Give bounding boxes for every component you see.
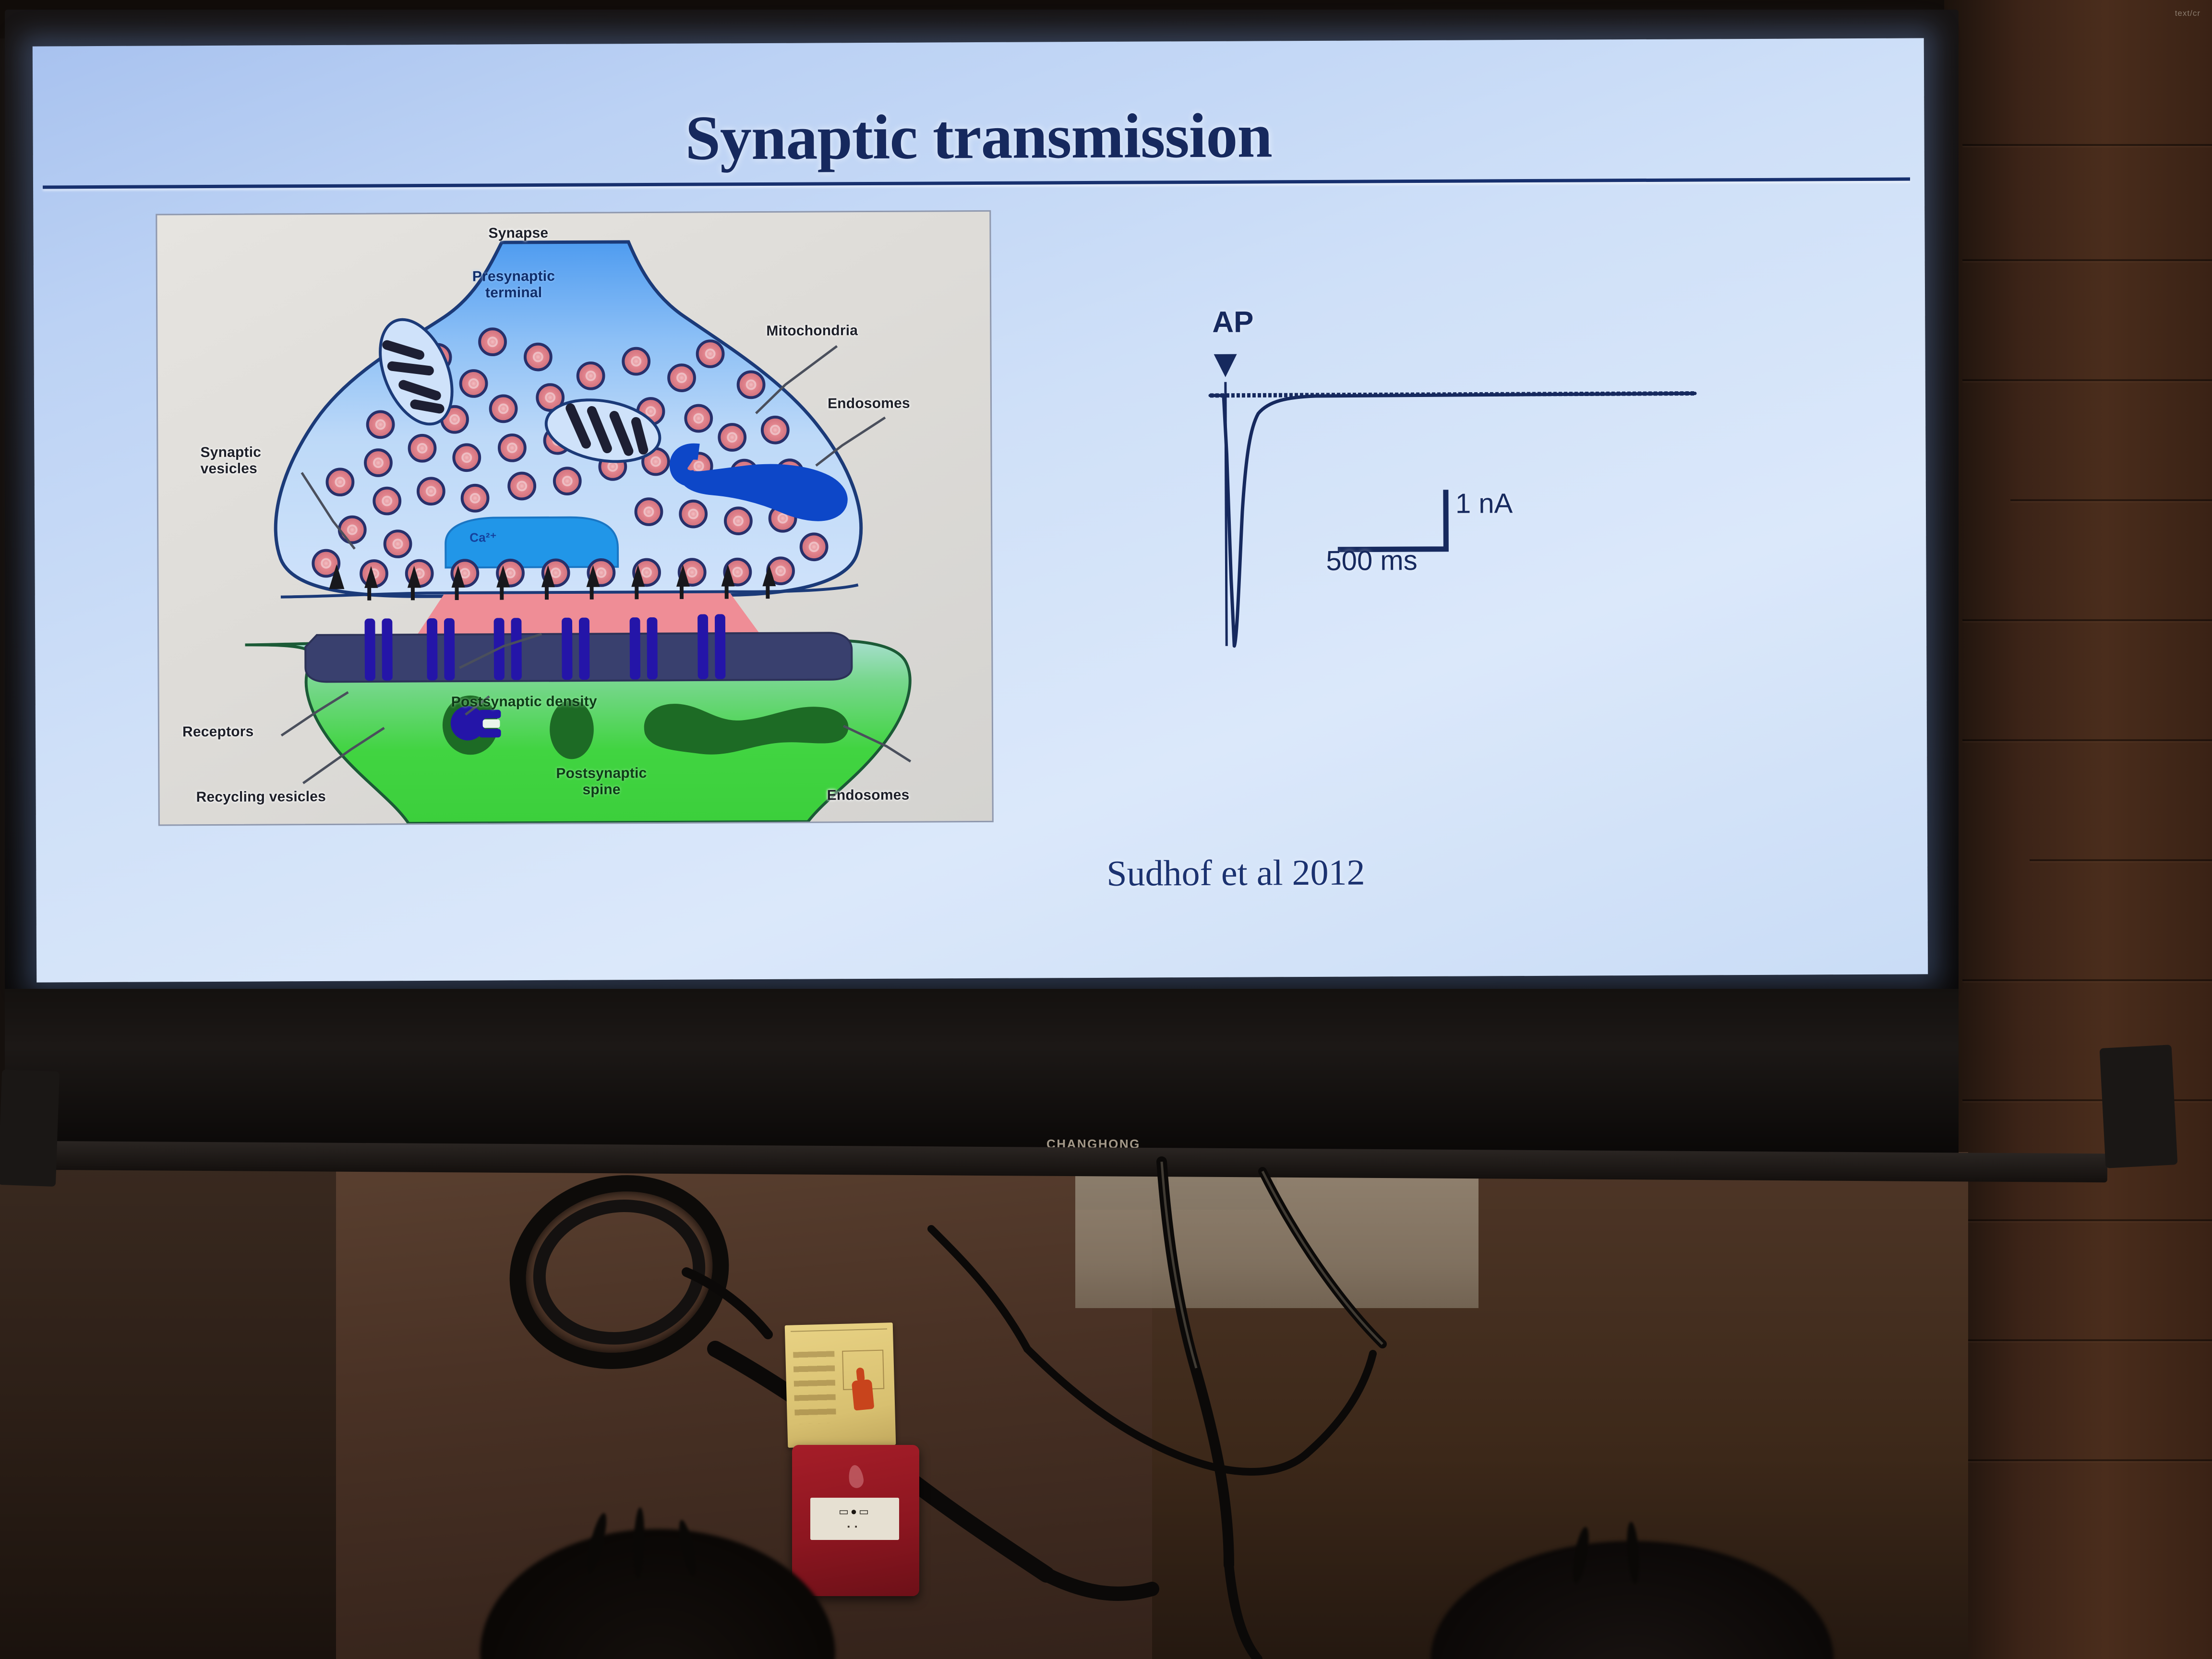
scale-bar-time-label: 500 ms (1326, 544, 1417, 577)
wall-panel (1075, 1159, 1479, 1308)
label-presynaptic-terminal: Presynaptic terminal (472, 268, 555, 301)
title-divider (43, 178, 1910, 189)
label-endosomes-top: Endosomes (828, 396, 910, 412)
label-endosomes-bottom: Endosomes (827, 787, 910, 804)
synapse-diagram-panel: Synapse Presynaptic terminal Synaptic ve… (156, 210, 994, 826)
citation: Sudhof et al 2012 (1106, 852, 1365, 895)
tv-bottom-bezel (5, 989, 1959, 1154)
label-mitochondria: Mitochondria (766, 323, 858, 339)
label-postsynaptic-spine: Postsynaptic spine (556, 765, 647, 798)
ap-label: AP (1212, 305, 1253, 339)
ap-arrow-marker (1214, 354, 1237, 377)
epsc-trace-chart: AP 1 nA 500 ms (1138, 307, 1812, 838)
epsc-trace-svg (1138, 307, 1812, 838)
label-receptors: Receptors (182, 724, 254, 740)
lecture-room-photo: Synaptic transmission (0, 0, 2212, 1659)
synapse-illustration (157, 212, 992, 825)
label-calcium: Ca²⁺ (469, 530, 497, 544)
flame-icon (847, 1464, 865, 1489)
tv-mount-right-bracket (2100, 1045, 2178, 1168)
alarm-subglyph: ▪▪ (810, 1523, 899, 1531)
fire-alarm-call-point[interactable]: ▭●▭ ▪▪ (792, 1445, 919, 1596)
fire-alarm-label-plate: ▭●▭ ▪▪ (810, 1498, 899, 1540)
wood-panel-wall (1944, 0, 2212, 1659)
epsc-waveform (1210, 394, 1696, 646)
tv-screen: Synaptic transmission (33, 38, 1928, 982)
label-synapse: Synapse (488, 225, 548, 241)
scale-bar-current-label: 1 nA (1455, 487, 1513, 520)
scale-bars (1340, 493, 1446, 550)
tv-mount-left-bracket (0, 1070, 60, 1187)
page-title: Synaptic transmission (33, 96, 1924, 177)
label-postsynaptic-density: Postsynaptic density (451, 693, 597, 710)
room-wall-left (0, 1142, 374, 1659)
label-recycling-vesicles: Recycling vesicles (196, 789, 326, 805)
label-synaptic-vesicles: Synaptic vesicles (200, 445, 261, 477)
corner-watermark: text/cr (2175, 9, 2200, 18)
fire-alarm-instruction-sticker (785, 1322, 896, 1448)
alarm-glyph: ▭●▭ (810, 1505, 899, 1518)
press-hand-icon (852, 1379, 875, 1411)
